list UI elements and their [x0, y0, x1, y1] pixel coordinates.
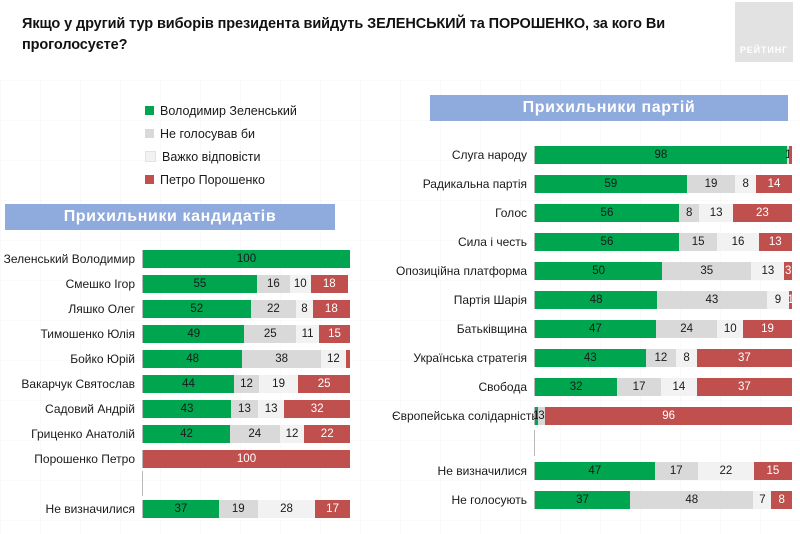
stacked-bar: 5919814 [534, 175, 792, 193]
bar-value-label: 9 [775, 294, 781, 306]
bar-value-label: 18 [325, 303, 338, 315]
bar-segment: 43 [143, 400, 231, 418]
bar-segment: 15 [679, 233, 718, 251]
bar-value-label: 32 [311, 403, 324, 415]
bar-value-label: 8 [686, 207, 692, 219]
bar-segment [789, 146, 792, 164]
bar-segment: 8 [296, 300, 313, 318]
chart-row: Не визначилися47172215 [392, 456, 800, 485]
chart-row-label: Гриценко Анатолій [0, 427, 142, 441]
bar-value-label: 15 [328, 328, 341, 340]
bar-value-label: 15 [767, 465, 780, 477]
stacked-bar: 42241222 [142, 425, 350, 443]
stacked-bar: 47241019 [534, 320, 792, 338]
bar-segment: 48 [143, 350, 242, 368]
bar-segment: 38 [242, 350, 321, 368]
chart-row: Партія Шарія484391 [392, 285, 800, 314]
bar-segment: 8 [676, 349, 697, 367]
chart-row: Бойко Юрій483812 [0, 346, 360, 371]
stacked-bar: 374878 [534, 491, 792, 509]
bar-segment: 37 [535, 491, 630, 509]
bar-value-label: 10 [294, 278, 307, 290]
chart-row: Ляшко Олег5222818 [0, 296, 360, 321]
bar-value-label: 23 [756, 207, 769, 219]
stacked-bar: 44121925 [142, 375, 350, 393]
chart-row: Європейська солідарність1396 [392, 401, 800, 430]
bar-value-label: 17 [326, 503, 339, 515]
header: Якщо у другий тур виборів президента вий… [0, 0, 800, 80]
bar-value-label: 47 [589, 323, 602, 335]
bar-value-label: 13 [769, 236, 782, 248]
chart-row-label: Бойко Юрій [0, 352, 142, 366]
bar-value-label: 48 [186, 353, 199, 365]
chart-row-label: Садовий Андрій [0, 402, 142, 416]
stacked-bar: 4312837 [534, 349, 792, 367]
chart-row: Батьківщина47241019 [392, 314, 800, 343]
bar-segment: 48 [630, 491, 753, 509]
stacked-bar: 56151613 [534, 233, 792, 251]
bar-segment: 37 [697, 378, 792, 396]
bar-value-label: 98 [655, 149, 668, 161]
bar-segment: 32 [284, 400, 350, 418]
legend-item: Важко відповісти [145, 146, 405, 167]
stacked-bar: 483812 [142, 350, 350, 368]
bar-value-label: 14 [673, 381, 686, 393]
bar-value-label: 96 [662, 410, 675, 422]
bar-segment: 22 [251, 300, 297, 318]
bar-segment: 19 [687, 175, 736, 193]
panel-title-candidates-label: Прихильники кандидатів [64, 208, 277, 226]
bar-value-label: 49 [187, 328, 200, 340]
bar-value-label: 44 [182, 378, 195, 390]
chart-row-label: Ляшко Олег [0, 302, 142, 316]
green-swatch-icon [145, 106, 154, 115]
chart-row: Порошенко Петро100 [0, 446, 360, 471]
bar-value-label: 25 [318, 378, 331, 390]
bar-segment: 17 [655, 462, 698, 480]
bar-value-label: 16 [267, 278, 280, 290]
bar-segment: 35 [662, 262, 751, 280]
bar-value-label: 32 [570, 381, 583, 393]
chart-row: Тимошенко Юлія49251115 [0, 321, 360, 346]
legend: Володимир ЗеленськийНе голосував биВажко… [145, 100, 405, 192]
chart-row-label: Радикальна партія [392, 177, 534, 191]
bar-value-label: 19 [272, 378, 285, 390]
bar-value-label: 18 [323, 278, 336, 290]
bar-value-label: 19 [705, 178, 718, 190]
bar-segment: 14 [756, 175, 792, 193]
chart-row-label: Не визначилися [392, 464, 534, 478]
legend-item: Володимир Зеленський [145, 100, 405, 121]
bar-segment: 25 [244, 325, 296, 343]
bar-value-label: 55 [194, 278, 207, 290]
stacked-bar: 100 [142, 450, 350, 468]
bar-segment: 14 [661, 378, 697, 396]
bar-value-label: 12 [286, 428, 299, 440]
chart-axis-line [534, 430, 535, 456]
bar-value-label: 56 [601, 207, 614, 219]
bar-value-label: 15 [692, 236, 705, 248]
bar-segment: 12 [280, 425, 305, 443]
rating-logo: РЕЙТИНГ [735, 2, 793, 62]
bar-segment: 56 [535, 233, 679, 251]
bar-value-label: 50 [592, 265, 605, 277]
bar-segment: 22 [698, 462, 754, 480]
chart-axis-line [142, 471, 143, 496]
bar-segment: 24 [230, 425, 280, 443]
chart-row-label: Слуга народу [392, 148, 534, 162]
bar-segment: 32 [535, 378, 617, 396]
bar-segment: 23 [733, 204, 792, 222]
bar-segment: 22 [304, 425, 350, 443]
bar-segment: 43 [657, 291, 766, 309]
bar-segment: 56 [535, 204, 679, 222]
bar-segment: 37 [697, 349, 792, 367]
bar-value-label: 52 [190, 303, 203, 315]
gray-swatch-icon [145, 129, 154, 138]
bar-segment: 10 [290, 275, 311, 293]
chart-row: Свобода32171437 [392, 372, 800, 401]
bar-value-label: 8 [743, 178, 749, 190]
bar-value-label: 12 [327, 353, 340, 365]
bar-value-label: 13 [710, 207, 723, 219]
bar-value-label: 25 [264, 328, 277, 340]
bar-segment: 13 [751, 262, 784, 280]
stacked-bar: 37192817 [142, 500, 350, 518]
bar-value-label: 19 [761, 323, 774, 335]
bar-value-label: 48 [590, 294, 603, 306]
logo-label: РЕЙТИНГ [740, 45, 788, 55]
chart-row: Смешко Ігор55161018 [0, 271, 360, 296]
bar-value-label: 100 [237, 453, 256, 465]
chart-row-label: Сила і честь [392, 235, 534, 249]
chart-row: Голос5681323 [392, 198, 800, 227]
bar-segment: 8 [771, 491, 792, 509]
bar-value-label: 56 [601, 236, 614, 248]
bar-segment: 3 [784, 262, 792, 280]
bar-value-label: 43 [584, 352, 597, 364]
bar-value-label: 42 [180, 428, 193, 440]
bar-segment: 59 [535, 175, 687, 193]
bar-segment: 11 [296, 325, 319, 343]
chart-row-label: Тимошенко Юлія [0, 327, 142, 341]
bar-segment: 13 [258, 400, 285, 418]
panel-title-parties-label: Прихильники партій [523, 99, 696, 117]
legend-item-label: Не голосував би [160, 127, 255, 141]
bar-segment: 1 [789, 291, 792, 309]
bar-segment: 17 [617, 378, 661, 396]
bar-segment: 55 [143, 275, 257, 293]
chart-row: Українська стратегія4312837 [392, 343, 800, 372]
stacked-bar: 5035133 [534, 262, 792, 280]
panel-title-parties: Прихильники партій [430, 95, 788, 121]
bar-value-label: 13 [265, 403, 278, 415]
stacked-bar: 5222818 [142, 300, 350, 318]
bar-value-label: 22 [719, 465, 732, 477]
bar-value-label: 48 [685, 494, 698, 506]
bar-value-label: 43 [705, 294, 718, 306]
bar-value-label: 47 [588, 465, 601, 477]
bar-segment: 19 [219, 500, 258, 518]
bar-value-label: 19 [232, 503, 245, 515]
chart-row-label: Порошенко Петро [0, 452, 142, 466]
chart-row-label: Європейська солідарність [392, 409, 534, 423]
chart-row-label: Свобода [392, 380, 534, 394]
legend-item-label: Петро Порошенко [160, 173, 265, 187]
legend-item-label: Важко відповісти [162, 150, 261, 164]
bar-value-label: 13 [761, 265, 774, 277]
bar-segment: 12 [321, 350, 346, 368]
bar-segment: 10 [717, 320, 743, 338]
bar-value-label: 28 [280, 503, 293, 515]
bar-value-label: 10 [724, 323, 737, 335]
bar-segment: 7 [753, 491, 771, 509]
bar-segment: 43 [535, 349, 646, 367]
legend-item: Петро Порошенко [145, 169, 405, 190]
chart-row-label: Опозиційна платформа [392, 264, 534, 278]
bar-segment: 15 [319, 325, 350, 343]
bar-segment: 9 [767, 291, 790, 309]
bar-value-label: 100 [237, 253, 256, 265]
bar-segment: 12 [234, 375, 259, 393]
chart-row-label: Батьківщина [392, 322, 534, 336]
lightgray-swatch-icon [145, 151, 156, 162]
bar-segment: 8 [735, 175, 756, 193]
chart-row: Зеленський Володимир100 [0, 246, 360, 271]
bar-segment: 52 [143, 300, 251, 318]
chart-row: Гриценко Анатолій42241222 [0, 421, 360, 446]
bar-segment: 37 [143, 500, 219, 518]
stacked-bar: 47172215 [534, 462, 792, 480]
chart-row-label: Голос [392, 206, 534, 220]
bar-segment: 16 [717, 233, 758, 251]
bar-value-label: 12 [655, 352, 668, 364]
chart-parties: Слуга народу981Радикальна партія5919814Г… [392, 140, 800, 514]
bar-segment: 47 [535, 320, 656, 338]
chart-row: Вакарчук Святослав44121925 [0, 371, 360, 396]
bar-segment: 13 [759, 233, 792, 251]
stacked-bar: 32171437 [534, 378, 792, 396]
bar-segment: 28 [258, 500, 315, 518]
stacked-bar: 484391 [534, 291, 792, 309]
chart-row: Садовий Андрій43131332 [0, 396, 360, 421]
chart-row-label: Не голосують [392, 493, 534, 507]
bar-value-label: 16 [732, 236, 745, 248]
bar-segment: 12 [646, 349, 677, 367]
bar-segment: 100 [143, 450, 350, 468]
bar-value-label: 11 [302, 328, 314, 340]
panel-title-candidates: Прихильники кандидатів [5, 204, 335, 230]
bar-segment: 18 [313, 300, 350, 318]
bar-value-label: 38 [275, 353, 288, 365]
bar-value-label: 43 [181, 403, 194, 415]
chart-row-spacer [392, 430, 800, 456]
stacked-bar: 43131332 [142, 400, 350, 418]
bar-value-label: 37 [738, 381, 751, 393]
bar-segment [346, 350, 350, 368]
bar-value-label: 22 [321, 428, 334, 440]
legend-item: Не голосував би [145, 123, 405, 144]
chart-row-label: Смешко Ігор [0, 277, 142, 291]
bar-segment: 19 [259, 375, 298, 393]
bar-value-label: 35 [700, 265, 713, 277]
bar-segment: 25 [298, 375, 350, 393]
bar-segment: 8 [679, 204, 700, 222]
bar-value-label: 59 [604, 178, 617, 190]
bar-segment: 50 [535, 262, 662, 280]
bar-segment: 3 [538, 407, 546, 425]
bar-segment: 96 [545, 407, 792, 425]
chart-row-label: Вакарчук Святослав [0, 377, 142, 391]
bar-segment: 17 [315, 500, 350, 518]
stacked-bar: 1396 [534, 407, 792, 425]
bar-value-label: 3 [538, 410, 544, 422]
chart-row-spacer [0, 471, 360, 496]
bar-value-label: 8 [683, 352, 689, 364]
page-title: Якщо у другий тур виборів президента вий… [22, 14, 712, 55]
red-swatch-icon [145, 175, 154, 184]
bar-value-label: 1 [788, 294, 794, 306]
chart-row: Слуга народу981 [392, 140, 800, 169]
bar-value-label: 8 [778, 494, 784, 506]
chart-row: Радикальна партія5919814 [392, 169, 800, 198]
bar-value-label: 8 [301, 303, 307, 315]
chart-row: Не визначилися37192817 [0, 496, 360, 521]
bar-segment: 47 [535, 462, 655, 480]
bar-segment: 13 [231, 400, 258, 418]
stacked-bar: 49251115 [142, 325, 350, 343]
bar-segment: 98 [535, 146, 787, 164]
bar-segment: 18 [311, 275, 348, 293]
bar-segment: 19 [743, 320, 792, 338]
stacked-bar: 100 [142, 250, 350, 268]
stacked-bar: 981 [534, 146, 792, 164]
bar-segment: 44 [143, 375, 234, 393]
legend-item-label: Володимир Зеленський [160, 104, 297, 118]
chart-row: Сила і честь56151613 [392, 227, 800, 256]
bar-segment: 100 [143, 250, 350, 268]
bar-value-label: 24 [680, 323, 693, 335]
bar-segment: 42 [143, 425, 230, 443]
bar-value-label: 22 [267, 303, 280, 315]
chart-row-label: Партія Шарія [392, 293, 534, 307]
stacked-bar: 5681323 [534, 204, 792, 222]
bar-value-label: 37 [576, 494, 589, 506]
bar-value-label: 37 [738, 352, 751, 364]
bar-value-label: 13 [238, 403, 251, 415]
bar-value-label: 12 [240, 378, 253, 390]
bar-value-label: 3 [785, 265, 791, 277]
bar-segment: 49 [143, 325, 244, 343]
bar-segment: 16 [257, 275, 290, 293]
bar-segment: 48 [535, 291, 657, 309]
chart-row-label: Не визначилися [0, 502, 142, 516]
bar-value-label: 14 [768, 178, 781, 190]
bar-value-label: 37 [175, 503, 188, 515]
bar-segment: 13 [699, 204, 732, 222]
bar-value-label: 17 [633, 381, 646, 393]
chart-row-label: Зеленський Володимир [0, 252, 142, 266]
chart-row: Опозиційна платформа5035133 [392, 256, 800, 285]
bar-value-label: 24 [248, 428, 261, 440]
bar-segment: 24 [656, 320, 718, 338]
bar-value-label: 7 [759, 494, 765, 506]
bar-segment: 15 [754, 462, 792, 480]
bar-value-label: 17 [670, 465, 683, 477]
chart-row: Не голосують374878 [392, 485, 800, 514]
chart-candidates: Зеленський Володимир100Смешко Ігор551610… [0, 246, 360, 521]
stacked-bar: 55161018 [142, 275, 350, 293]
chart-row-label: Українська стратегія [392, 351, 534, 365]
